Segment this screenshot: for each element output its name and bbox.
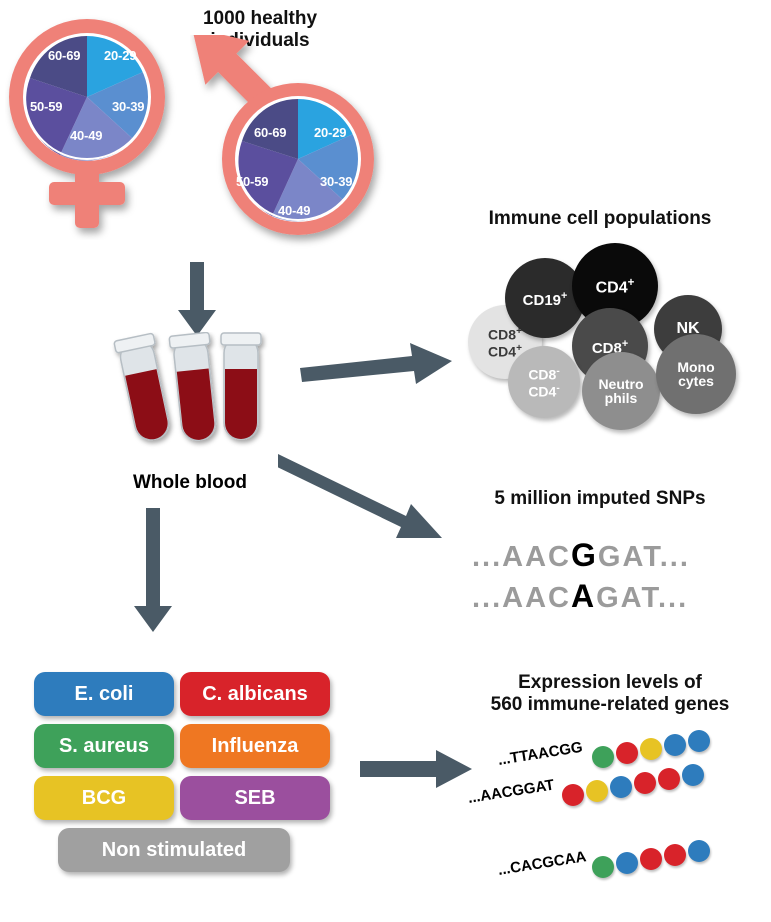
female-age-label-60-69: 60-69 xyxy=(48,48,80,63)
expression-bead-1-3 xyxy=(640,738,662,760)
female-age-label-40-49: 40-49 xyxy=(70,128,102,143)
immune-cell-monocytes: Monocytes xyxy=(656,334,736,414)
expression-bead-2-3 xyxy=(610,776,632,798)
expression-strand-label-1: ...TTAACGG xyxy=(497,739,584,769)
expression-bead-3-3 xyxy=(640,848,662,870)
stimulus-bcg[interactable]: BCG xyxy=(34,776,174,820)
stimulus-c-albicans[interactable]: C. albicans xyxy=(180,672,330,716)
male-gender-symbol xyxy=(190,35,420,255)
expression-bead-2-1 xyxy=(562,784,584,806)
expression-bead-2-6 xyxy=(682,764,704,786)
expression-bead-3-1 xyxy=(592,856,614,878)
snp-sequence-bottom: ...AACAGAT... xyxy=(472,578,688,615)
whole-blood-label: Whole blood xyxy=(90,472,290,494)
arrow-blood-to-immune xyxy=(300,330,460,390)
expression-bead-2-2 xyxy=(586,780,608,802)
female-age-label-50-59: 50-59 xyxy=(30,99,62,114)
expression-bead-1-5 xyxy=(688,730,710,752)
snps-heading: 5 million imputed SNPs xyxy=(440,488,760,510)
snp-top-prefix: ...AAC xyxy=(472,541,571,573)
snp-bottom-suffix: GAT... xyxy=(596,582,688,614)
snp-top-highlight: G xyxy=(571,537,598,573)
expression-heading: Expression levels of 560 immune-related … xyxy=(460,672,760,716)
blood-collection-tubes xyxy=(110,332,280,452)
arrow-cohort-to-blood xyxy=(172,262,222,342)
male-age-label-20-29: 20-29 xyxy=(314,125,346,140)
arrow-blood-to-snps xyxy=(278,448,458,558)
expression-heading-line2: 560 immune-related genes xyxy=(460,694,760,716)
stimulus-seb[interactable]: SEB xyxy=(180,776,330,820)
expression-bead-1-4 xyxy=(664,734,686,756)
snp-top-suffix: GAT... xyxy=(598,541,690,573)
arrow-blood-to-stimuli xyxy=(128,508,178,638)
diagram-canvas: 1000 healthy individuals 20-29 30-39 40-… xyxy=(0,0,771,922)
female-age-label-20-29: 20-29 xyxy=(104,48,136,63)
male-age-label-60-69: 60-69 xyxy=(254,125,286,140)
female-gender-symbol xyxy=(5,10,195,240)
stimulus-s-aureus[interactable]: S. aureus xyxy=(34,724,174,768)
immune-heading: Immune cell populations xyxy=(440,208,760,230)
expression-bead-1-2 xyxy=(616,742,638,764)
snp-bottom-highlight: A xyxy=(571,578,596,614)
stimulus-e-coli[interactable]: E. coli xyxy=(34,672,174,716)
stimulus-non-stimulated[interactable]: Non stimulated xyxy=(58,828,290,872)
expression-bead-1-1 xyxy=(592,746,614,768)
stimulus-influenza[interactable]: Influenza xyxy=(180,724,330,768)
arrow-stimuli-to-expression xyxy=(360,748,480,790)
expression-bead-3-4 xyxy=(664,844,686,866)
expression-bead-3-5 xyxy=(688,840,710,862)
expression-bead-3-2 xyxy=(616,852,638,874)
snp-sequence-top: ...AACGGAT... xyxy=(472,537,690,574)
immune-cell-cd8neg-cd4neg: CD8-CD4- xyxy=(508,346,580,418)
female-age-label-30-39: 30-39 xyxy=(112,99,144,114)
expression-strand-label-3: ...CACGCAA xyxy=(497,848,588,879)
expression-bead-2-5 xyxy=(658,768,680,790)
male-age-label-30-39: 30-39 xyxy=(320,174,352,189)
snp-bottom-prefix: ...AAC xyxy=(472,582,571,614)
expression-bead-2-4 xyxy=(634,772,656,794)
expression-heading-line1: Expression levels of xyxy=(460,672,760,694)
immune-cell-neutrophils: Neutrophils xyxy=(582,352,660,430)
male-age-label-40-49: 40-49 xyxy=(278,203,310,218)
male-age-label-50-59: 50-59 xyxy=(236,174,268,189)
